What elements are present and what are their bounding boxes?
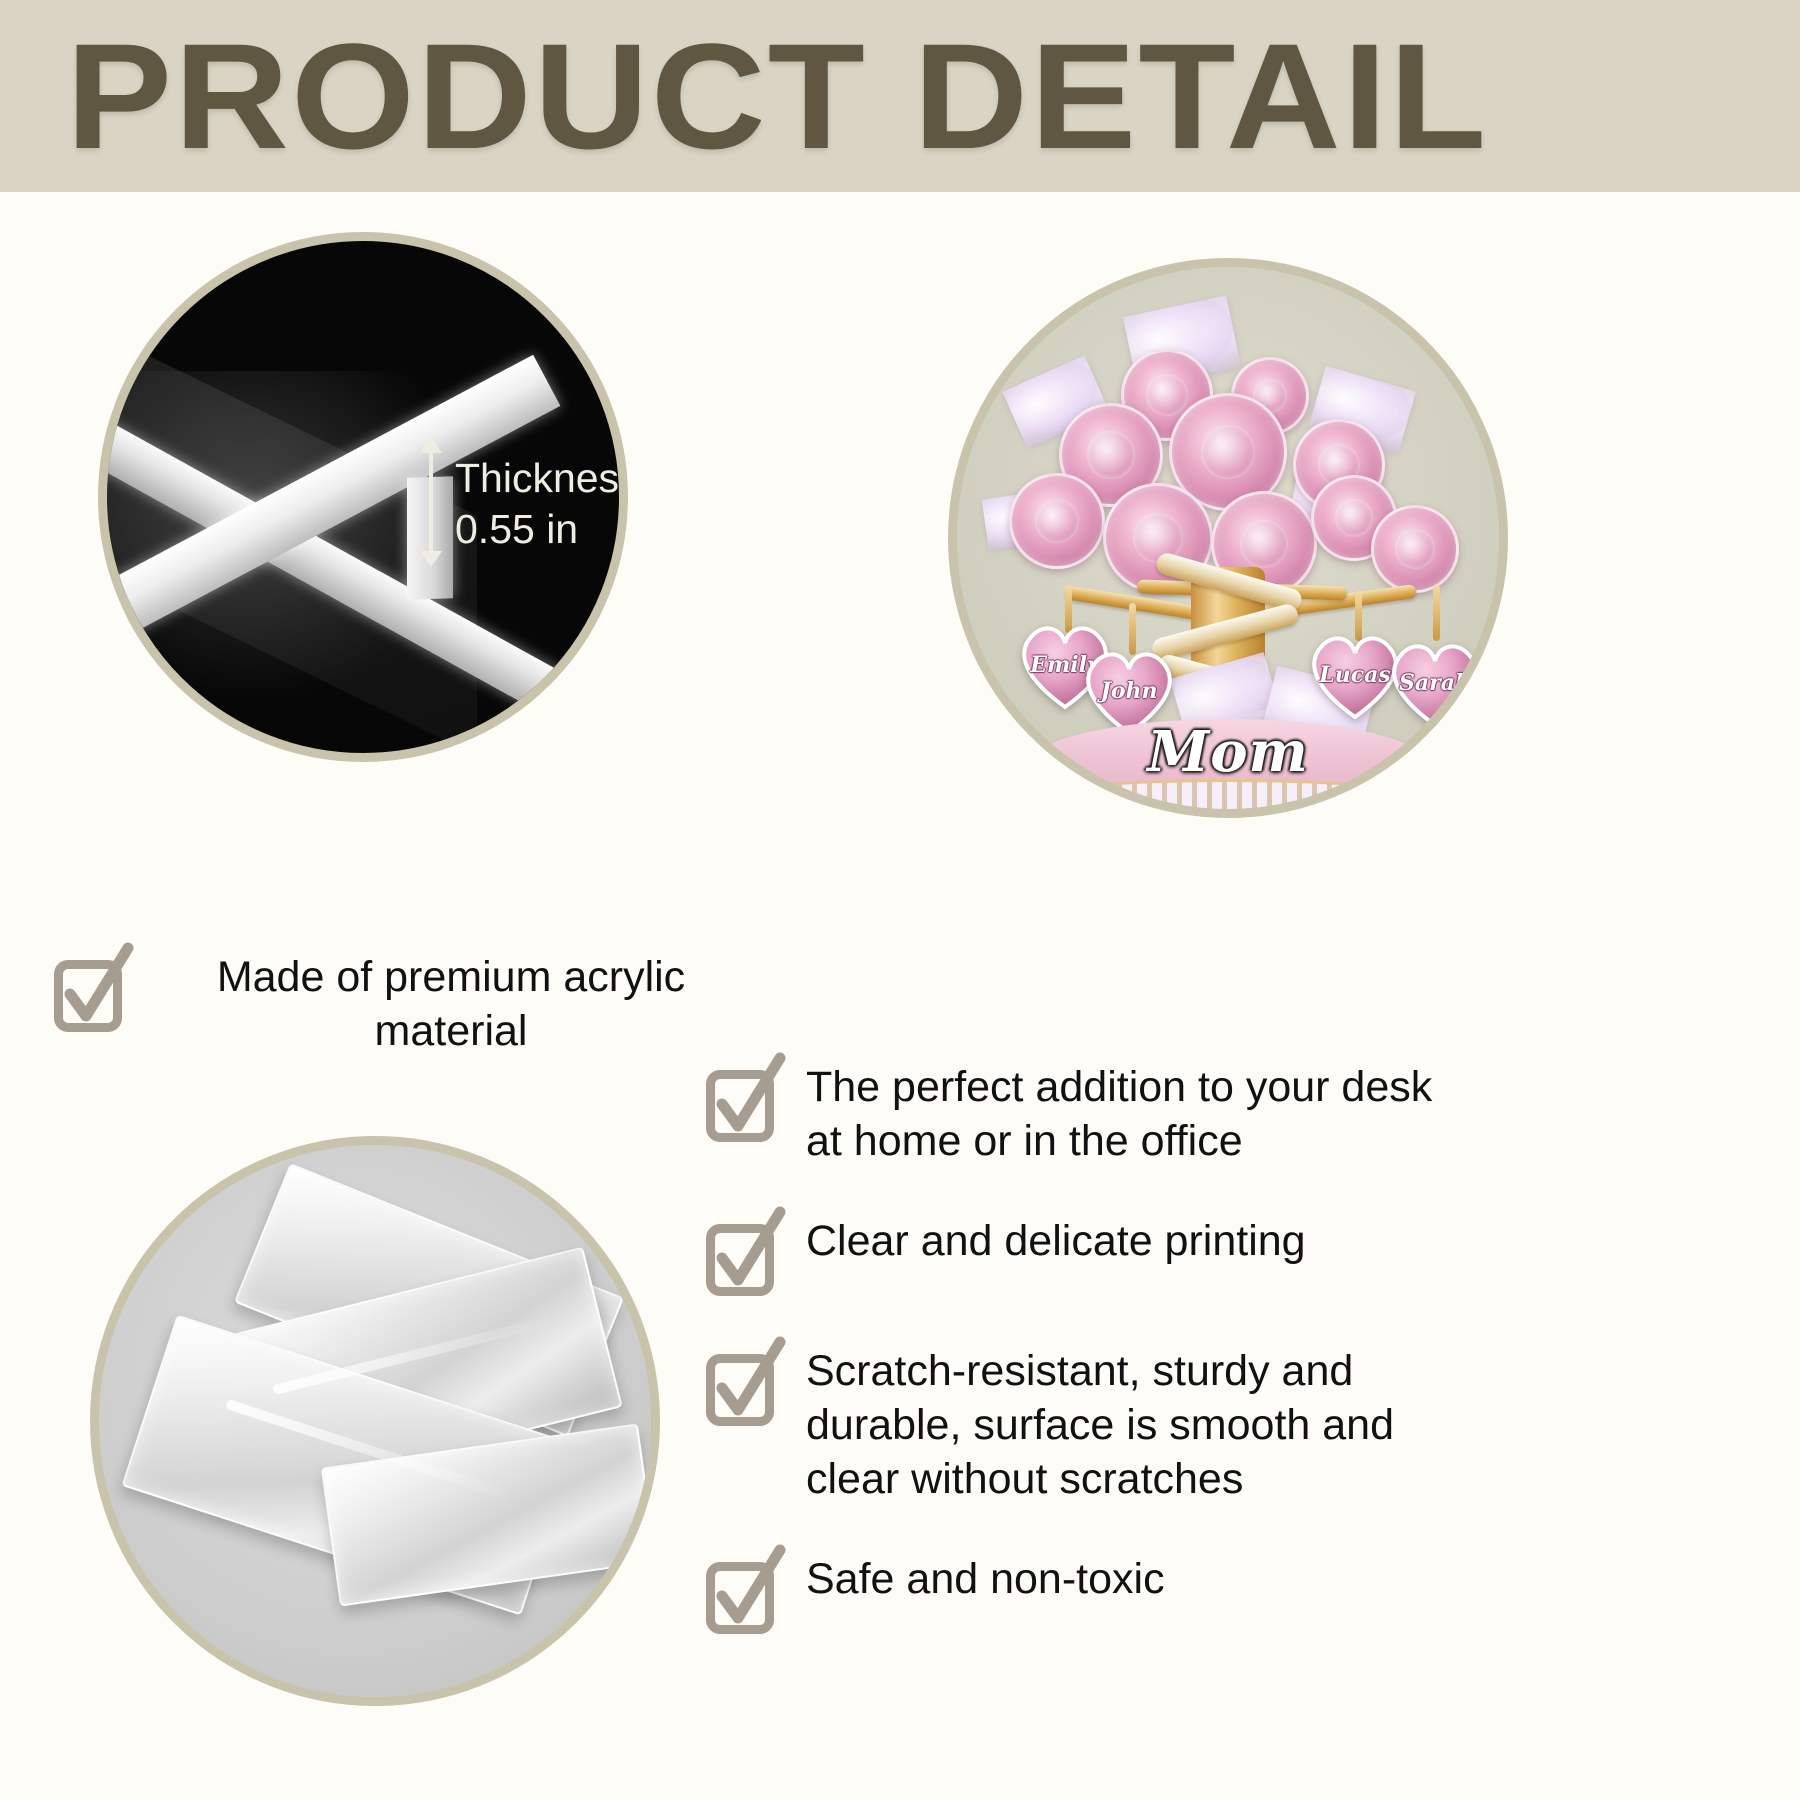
base-engraving: Mom — [1147, 719, 1309, 785]
bullet-line: durable, surface is smooth and — [806, 1398, 1394, 1452]
header-band: PRODUCT DETAIL — [0, 0, 1800, 192]
charm-label: Sarah — [1385, 670, 1485, 696]
bullet-scratch-resistant: Scratch-resistant, sturdy and durable, s… — [700, 1344, 1770, 1506]
check-mark-icon — [700, 1552, 784, 1636]
bullet-line: Made of premium acrylic — [154, 950, 748, 1004]
product-detail-infographic: PRODUCT DETAIL Thickness 0.55 in — [0, 0, 1800, 1800]
acrylic-edge-thickness-photo: Thickness 0.55 in — [98, 232, 628, 762]
bullet-line: Scratch-resistant, sturdy and — [806, 1344, 1394, 1398]
arrow-stem — [429, 447, 433, 557]
thickness-callout-line2: 0.55 in — [455, 504, 628, 555]
arrow-head-down — [420, 551, 442, 567]
check-mark-icon — [700, 1060, 784, 1144]
bullet-line: Safe and non-toxic — [806, 1552, 1165, 1606]
checkbox-checked-icon — [700, 1344, 784, 1428]
bullet-line: Clear and delicate printing — [806, 1214, 1306, 1268]
bullet-text: Safe and non-toxic — [806, 1552, 1165, 1606]
bullet-line: material — [154, 1004, 748, 1058]
checkbox-checked-icon — [700, 1552, 784, 1636]
bullet-premium-acrylic: Made of premium acrylic material — [48, 950, 748, 1058]
rose — [1009, 473, 1105, 569]
bullet-clear-printing: Clear and delicate printing — [700, 1214, 1770, 1298]
bullet-text: Scratch-resistant, sturdy and durable, s… — [806, 1344, 1394, 1506]
check-mark-icon — [48, 950, 132, 1034]
rose-tree-keepsake-photo: Emily John Lucas Sarah Mom — [948, 258, 1508, 818]
bullet-text: Clear and delicate printing — [806, 1214, 1306, 1268]
rose — [1371, 505, 1459, 593]
bullet-perfect-addition: The perfect addition to your desk at hom… — [700, 1060, 1770, 1168]
feature-bullet-list: The perfect addition to your desk at hom… — [700, 1060, 1770, 1636]
bullet-line: at home or in the office — [806, 1114, 1432, 1168]
check-mark-icon — [700, 1344, 784, 1428]
page-title: PRODUCT DETAIL — [66, 21, 1488, 171]
thickness-callout: Thickness 0.55 in — [455, 453, 628, 555]
checkbox-checked-icon — [48, 950, 132, 1034]
heart-charm: Sarah — [1385, 637, 1485, 729]
charm-label: John — [1079, 678, 1179, 704]
bullet-text: The perfect addition to your desk at hom… — [806, 1060, 1432, 1168]
bullet-safe-non-toxic: Safe and non-toxic — [700, 1552, 1770, 1636]
checkbox-checked-icon — [700, 1214, 784, 1298]
thickness-measure-arrow-icon — [413, 437, 447, 567]
charm-string — [1433, 585, 1440, 641]
thickness-callout-line1: Thickness — [455, 453, 628, 504]
stacked-acrylic-sheets-photo — [90, 1136, 660, 1706]
bullet-line: clear without scratches — [806, 1452, 1394, 1506]
bullet-text: Made of premium acrylic material — [154, 950, 748, 1058]
bullet-line: The perfect addition to your desk — [806, 1060, 1432, 1114]
checkbox-checked-icon — [700, 1060, 784, 1144]
check-mark-icon — [700, 1214, 784, 1298]
